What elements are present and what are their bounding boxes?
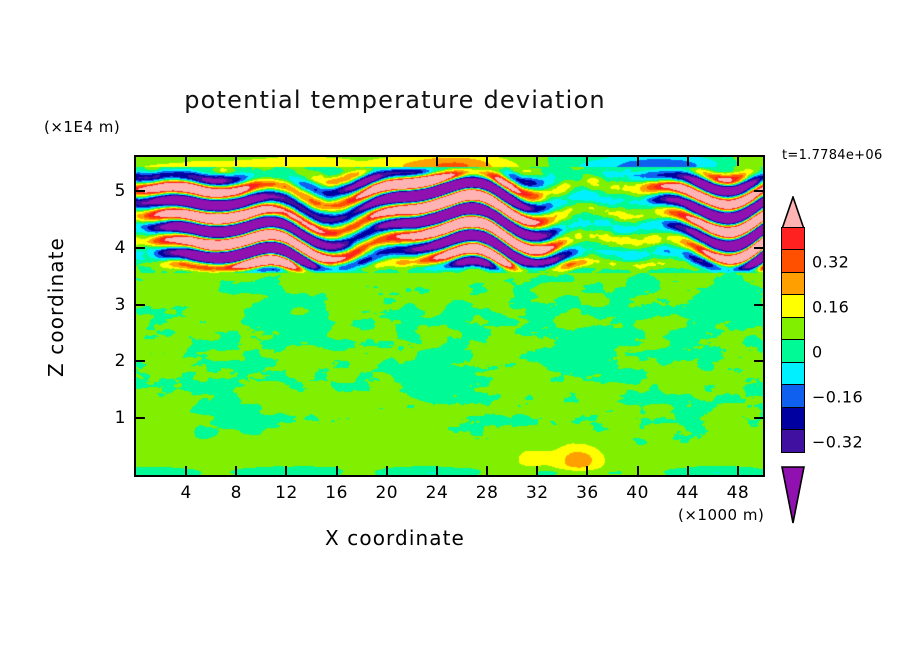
x-tick-48 [737, 157, 739, 166]
colorbar-tick-label-0: 0.32 [812, 252, 849, 271]
x-tick-40 [637, 466, 639, 475]
x-tick-label-24: 24 [426, 483, 449, 503]
colorbar-band-9[interactable] [781, 429, 805, 453]
x-tick-label-32: 32 [526, 483, 549, 503]
y-tick-5 [136, 190, 145, 192]
colorbar-band-7[interactable] [781, 384, 805, 408]
colorbar-band-2[interactable] [781, 272, 805, 296]
x-tick-label-4: 4 [180, 483, 191, 503]
colorbar-band-6[interactable] [781, 362, 805, 386]
x-tick-16 [336, 466, 338, 475]
x-tick-28 [486, 157, 488, 166]
x-tick-48 [737, 466, 739, 475]
y-axis-title: Z coordinate [44, 207, 68, 407]
x-tick-16 [336, 157, 338, 166]
x-tick-4 [185, 157, 187, 166]
x-axis-units-label: (×1000 m) [678, 506, 764, 524]
x-tick-28 [486, 466, 488, 475]
colorbar-tick-label-1: 0.16 [812, 297, 849, 316]
x-tick-8 [235, 157, 237, 166]
colorbar-band-0[interactable] [781, 227, 805, 251]
x-tick-20 [386, 157, 388, 166]
y-tick-1 [136, 417, 145, 419]
y-tick-3 [136, 304, 145, 306]
contour-plot-area [134, 155, 765, 477]
contour-field [136, 157, 763, 475]
x-tick-label-16: 16 [325, 483, 348, 503]
colorbar-tick-label-2: 0 [812, 342, 823, 361]
x-tick-44 [687, 466, 689, 475]
x-tick-36 [586, 157, 588, 166]
x-tick-24 [436, 466, 438, 475]
x-tick-4 [185, 466, 187, 475]
x-axis-title: X coordinate [0, 526, 790, 550]
y-tick-label-2: 2 [100, 351, 126, 371]
y-tick-4 [754, 247, 763, 249]
x-tick-label-20: 20 [375, 483, 398, 503]
colorbar-tick-label-4: −0.32 [812, 432, 863, 451]
x-tick-label-40: 40 [626, 483, 649, 503]
y-tick-label-5: 5 [100, 181, 126, 201]
x-tick-12 [285, 157, 287, 166]
y-tick-2 [754, 360, 763, 362]
x-tick-label-44: 44 [676, 483, 699, 503]
x-tick-24 [436, 157, 438, 166]
colorbar-tick-label-3: −0.16 [812, 387, 863, 406]
x-tick-label-8: 8 [231, 483, 242, 503]
colorbar[interactable] [781, 228, 805, 453]
page-title: potential temperature deviation [0, 86, 790, 114]
colorbar-under-cap [781, 466, 805, 524]
x-tick-32 [536, 157, 538, 166]
x-tick-label-36: 36 [576, 483, 599, 503]
colorbar-band-4[interactable] [781, 317, 805, 341]
x-tick-36 [586, 466, 588, 475]
colorbar-band-8[interactable] [781, 407, 805, 431]
y-tick-1 [754, 417, 763, 419]
x-tick-32 [536, 466, 538, 475]
x-tick-label-12: 12 [275, 483, 298, 503]
x-tick-40 [637, 157, 639, 166]
y-tick-label-4: 4 [100, 238, 126, 258]
y-tick-4 [136, 247, 145, 249]
y-tick-2 [136, 360, 145, 362]
x-tick-label-28: 28 [476, 483, 499, 503]
y-axis-units-label: (×1E4 m) [44, 118, 120, 136]
y-tick-5 [754, 190, 763, 192]
y-tick-label-1: 1 [100, 408, 126, 428]
x-tick-20 [386, 466, 388, 475]
y-tick-label-3: 3 [100, 295, 126, 315]
colorbar-band-3[interactable] [781, 294, 805, 318]
x-tick-8 [235, 466, 237, 475]
colorbar-band-5[interactable] [781, 339, 805, 363]
y-tick-3 [754, 304, 763, 306]
figure-canvas: potential temperature deviation (×1E4 m)… [0, 0, 904, 654]
x-tick-label-48: 48 [727, 483, 750, 503]
time-annotation: t=1.7784e+06 [782, 148, 883, 163]
x-tick-44 [687, 157, 689, 166]
colorbar-over-cap [781, 196, 805, 230]
colorbar-band-1[interactable] [781, 249, 805, 273]
x-tick-12 [285, 466, 287, 475]
